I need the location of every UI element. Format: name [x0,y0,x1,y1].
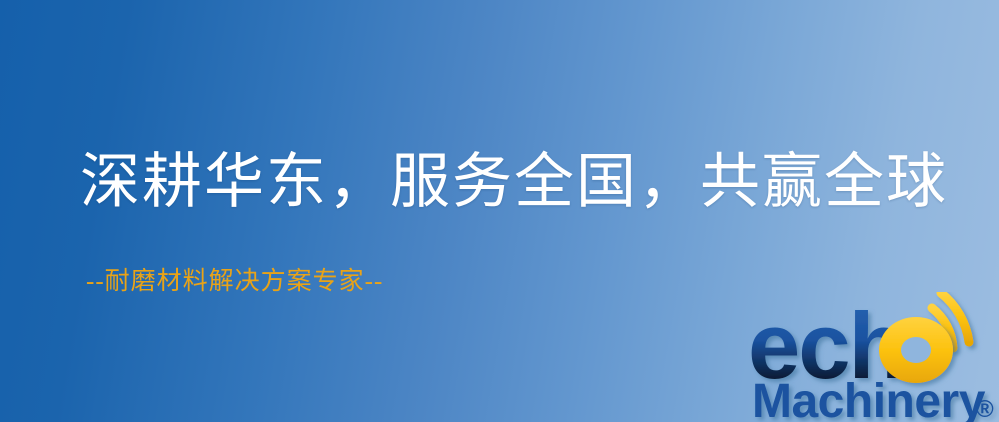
company-logo[interactable]: ech Machinery ® [748,292,999,422]
logo-trademark-symbol: ® [976,396,994,422]
banner-subtitle: --耐磨材料解决方案专家-- [86,268,383,296]
hero-banner: 深耕华东，服务全国，共赢全球 --耐磨材料解决方案专家-- [0,0,999,422]
banner-headline: 深耕华东，服务全国，共赢全球 [80,152,940,212]
logo-letter-o [879,317,953,383]
logo-wordmark-machinery: Machinery [752,375,986,422]
